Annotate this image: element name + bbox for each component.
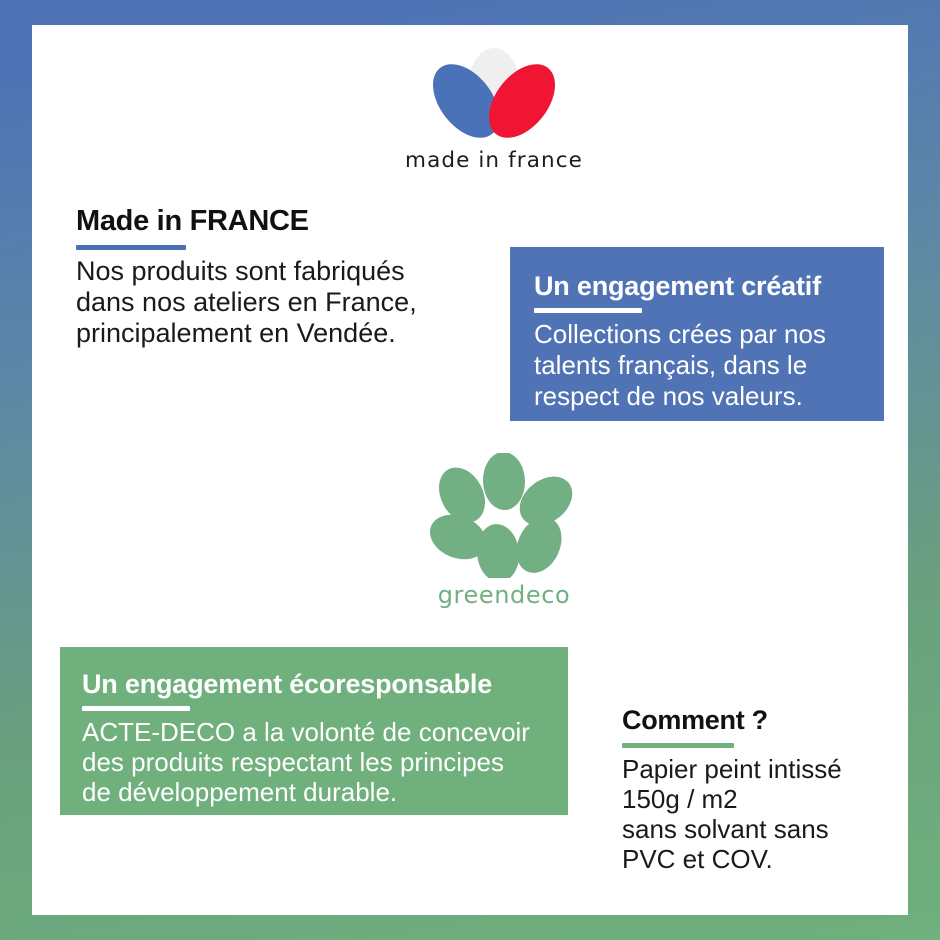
text-line: Nos produits sont fabriqués [76, 256, 476, 287]
made-in-france-petals-icon [394, 43, 594, 143]
made-in-france-heading: Made in FRANCE [76, 205, 476, 238]
text-line: talents français, dans le [534, 350, 884, 381]
engagement-ecoresponsable-card: Un engagement écoresponsable ACTE-DECO a… [60, 647, 568, 815]
greendeco-flower-icon [424, 453, 584, 578]
text-line: respect de nos valeurs. [534, 381, 884, 412]
text-line: Collections crées par nos [534, 319, 884, 350]
made-in-france-caption: made in france [394, 148, 594, 173]
comment-heading: Comment ? [622, 705, 908, 736]
made-in-france-body: Nos produits sont fabriqués dans nos ate… [76, 256, 476, 349]
text-line: PVC et COV. [622, 844, 908, 874]
engagement-creatif-underline [534, 308, 642, 313]
comment-underline [622, 743, 734, 748]
petal-icon [482, 453, 526, 511]
text-line: dans nos ateliers en France, [76, 287, 476, 318]
text-line: des produits respectant les principes [82, 747, 568, 777]
engagement-ecoresponsable-underline [82, 706, 190, 711]
engagement-ecoresponsable-body: ACTE-DECO a la volonté de concevoir des … [82, 717, 568, 807]
engagement-creatif-heading: Un engagement créatif [534, 271, 884, 302]
infographic-page: made in france Made in FRANCE Nos produi… [0, 0, 940, 940]
engagement-creatif-card: Un engagement créatif Collections crées … [510, 247, 884, 421]
engagement-ecoresponsable-heading: Un engagement écoresponsable [82, 669, 568, 700]
made-in-france-logo: made in france [394, 43, 594, 193]
text-line: ACTE-DECO a la volonté de concevoir [82, 717, 568, 747]
text-line: principalement en Vendée. [76, 318, 476, 349]
text-line: 150g / m2 [622, 784, 908, 814]
text-line: Papier peint intissé [622, 754, 908, 784]
made-in-france-underline [76, 245, 186, 250]
greendeco-logo: greendeco [404, 453, 604, 613]
greendeco-caption: greendeco [404, 581, 604, 609]
made-in-france-text-block: Made in FRANCE Nos produits sont fabriqu… [76, 205, 476, 349]
content-canvas: made in france Made in FRANCE Nos produi… [32, 25, 908, 915]
engagement-creatif-body: Collections crées par nos talents frança… [534, 319, 884, 412]
comment-body: Papier peint intissé 150g / m2 sans solv… [622, 754, 908, 874]
comment-text-block: Comment ? Papier peint intissé 150g / m2… [622, 705, 908, 874]
text-line: sans solvant sans [622, 814, 908, 844]
text-line: de développement durable. [82, 777, 568, 807]
